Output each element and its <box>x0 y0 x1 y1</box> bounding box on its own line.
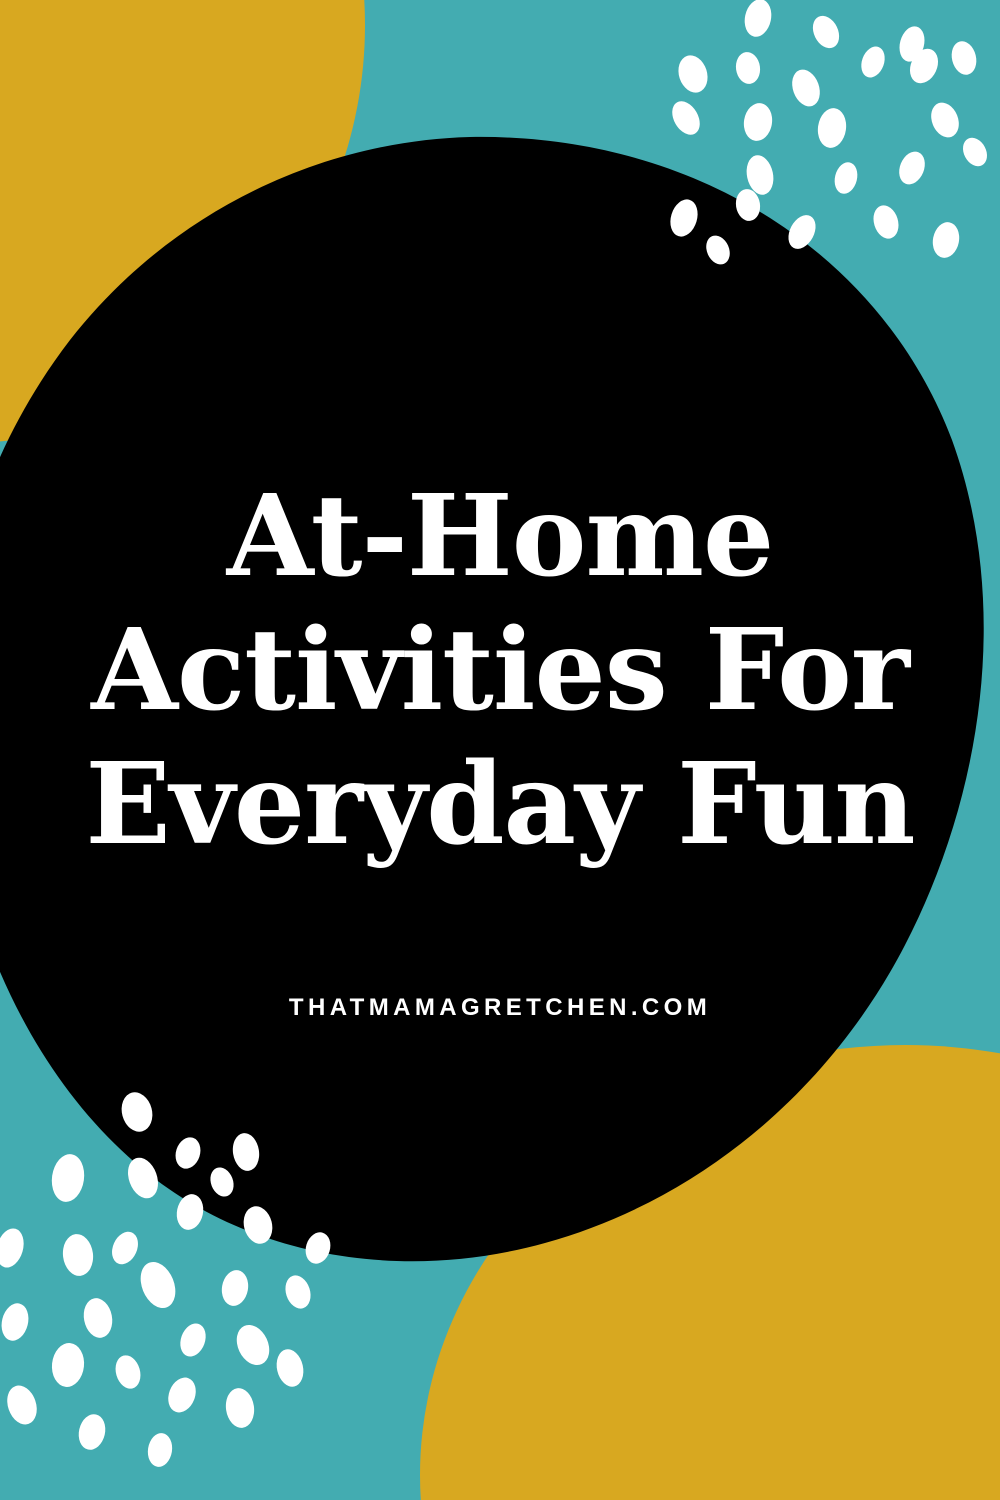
pinterest-pin-graphic: At-Home Activities For Everyday Fun that… <box>0 0 1000 1500</box>
dot <box>145 1431 174 1468</box>
dot <box>50 1341 86 1388</box>
dot <box>75 1412 108 1453</box>
dot <box>219 1268 251 1308</box>
dot <box>163 1374 200 1417</box>
dot <box>240 1203 276 1247</box>
dot <box>0 1300 32 1343</box>
confetti-dots-bottom-left <box>0 0 1000 1500</box>
dot <box>172 1134 205 1172</box>
dot <box>230 1131 262 1173</box>
dot <box>117 1089 156 1135</box>
dot <box>2 1382 41 1429</box>
dot <box>134 1257 182 1313</box>
dot <box>112 1352 144 1391</box>
dot <box>61 1232 96 1277</box>
dot <box>80 1296 115 1341</box>
dot <box>123 1153 164 1202</box>
dot <box>273 1347 307 1390</box>
dot <box>231 1320 276 1371</box>
dot <box>174 1192 207 1233</box>
dot <box>107 1228 143 1269</box>
dot <box>223 1386 256 1430</box>
dot <box>302 1229 334 1267</box>
dot <box>0 1225 28 1271</box>
dot <box>281 1272 314 1312</box>
dot <box>176 1320 210 1360</box>
dot <box>206 1164 237 1200</box>
dot <box>49 1152 87 1204</box>
